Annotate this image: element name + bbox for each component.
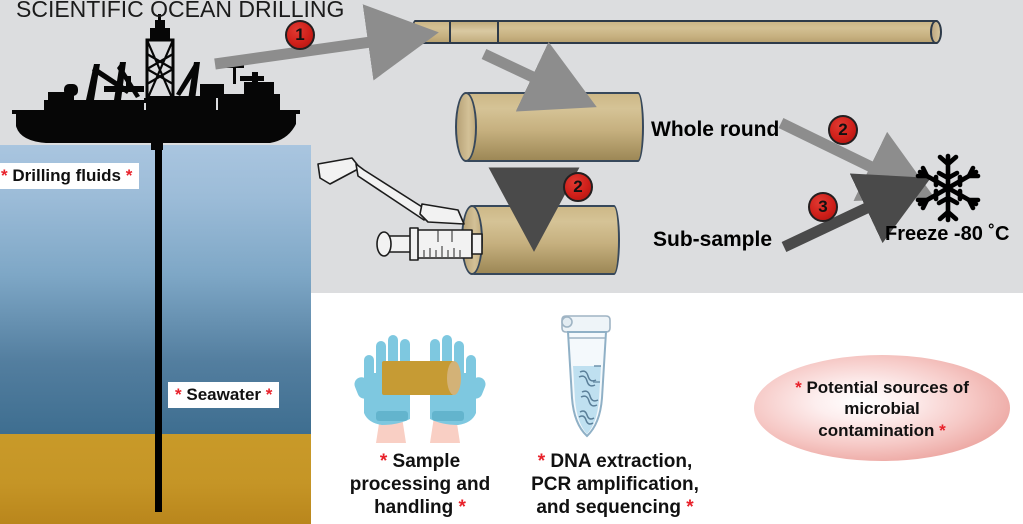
label-seawater: * Seawater * — [168, 382, 279, 408]
step-marker-2-subsample: 2 — [563, 172, 593, 202]
label-seawater-text: Seawater — [186, 385, 261, 404]
label-sub-sample: Sub-sample — [653, 228, 772, 252]
caption-dna-extraction-line2: PCR amplification, — [531, 474, 699, 495]
label-drilling-fluids-text: Drilling fluids — [12, 166, 121, 185]
drill-ship-icon — [8, 14, 300, 150]
asterisk-icon: * — [126, 166, 133, 185]
microcentrifuge-tube-icon — [558, 312, 616, 440]
core-liner-whole-round-segment — [449, 20, 499, 44]
asterisk-icon: * — [459, 497, 466, 518]
caption-sample-processing: * Sample processing and handling * — [330, 450, 510, 520]
label-whole-round: Whole round — [651, 118, 779, 142]
asterisk-icon: * — [795, 378, 802, 397]
caption-dna-extraction-line3: and sequencing — [536, 497, 681, 518]
held-core-section — [382, 361, 461, 395]
core-liner-end-cap — [930, 20, 942, 44]
drill-pipe — [155, 130, 162, 512]
asterisk-icon: * — [686, 497, 693, 518]
label-drilling-fluids: * Drilling fluids * — [0, 163, 139, 189]
legend-text: * Potential sources of microbial contami… — [754, 377, 1010, 441]
snowflake-icon — [912, 152, 984, 224]
legend-line1: Potential sources of — [806, 378, 968, 397]
step-marker-3: 3 — [808, 192, 838, 222]
label-freeze: Freeze -80 ˚C — [885, 223, 1010, 246]
caption-sample-processing-line1: Sample — [393, 451, 461, 472]
asterisk-icon: * — [538, 451, 545, 472]
caption-dna-extraction: * DNA extraction, PCR amplification, and… — [510, 450, 720, 520]
caption-sample-processing-line2: processing and — [350, 474, 490, 495]
step-marker-1: 1 — [285, 20, 315, 50]
asterisk-icon: * — [266, 385, 273, 404]
step-marker-2-wholeround: 2 — [828, 115, 858, 145]
asterisk-icon: * — [1, 166, 8, 185]
sampling-tools-icon — [312, 150, 502, 280]
asterisk-icon: * — [380, 451, 387, 472]
diagram-canvas: SCIENTIFIC OCEAN DRILLING * Drilling flu… — [0, 0, 1023, 524]
gloved-hands-icon — [350, 325, 490, 445]
caption-sample-processing-line3: handling — [374, 497, 453, 518]
asterisk-icon: * — [939, 421, 946, 440]
caption-dna-extraction-line1: DNA extraction, — [550, 451, 692, 472]
legend-line2: microbial — [844, 399, 920, 418]
glove-cuff — [376, 411, 408, 421]
asterisk-icon: * — [175, 385, 182, 404]
glove-cuff — [432, 411, 464, 421]
legend-line3: contamination — [818, 421, 934, 440]
